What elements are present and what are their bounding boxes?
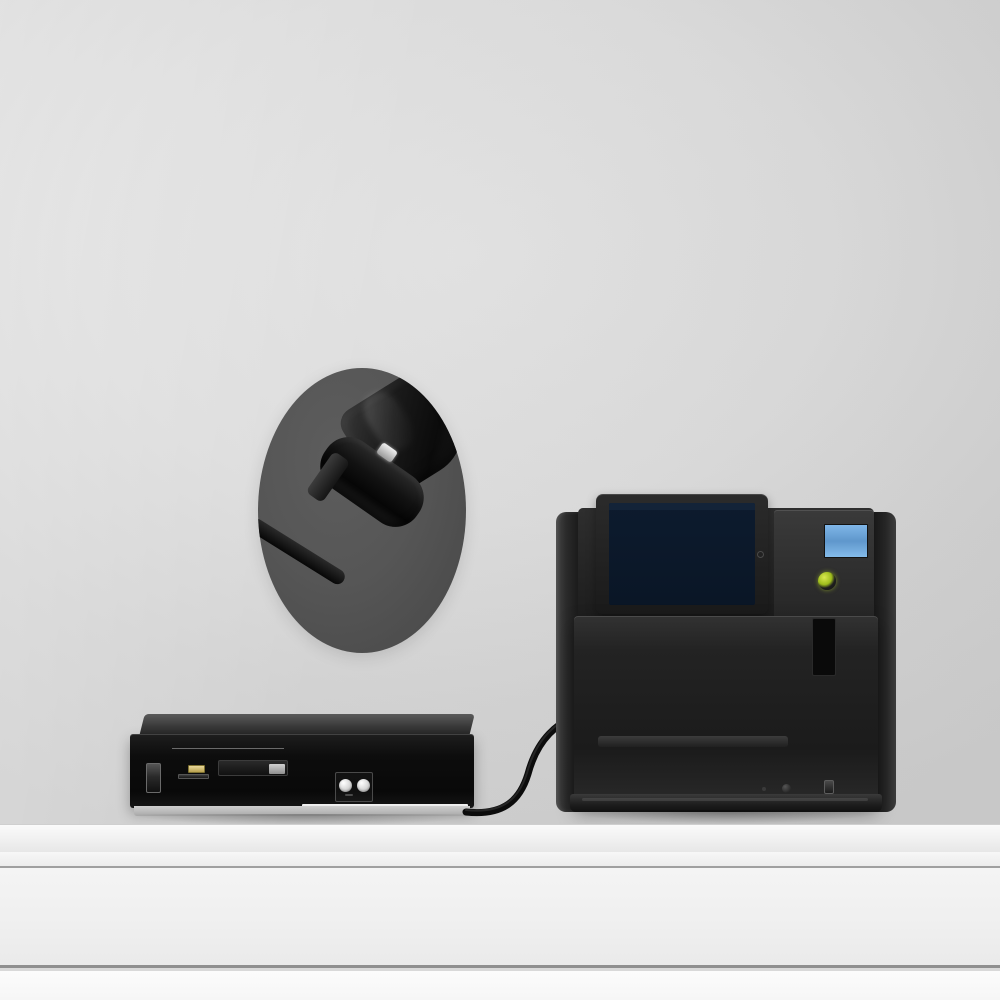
amplifier-vents [322, 720, 436, 728]
xlr-connector-inset [258, 368, 466, 653]
console-control-panel[interactable] [774, 510, 874, 620]
amplifier-top-cover [139, 714, 474, 736]
public-address-amplifier [130, 714, 474, 824]
front-volume-knob[interactable] [782, 784, 791, 793]
master-level-meter [812, 618, 836, 676]
usb-port[interactable] [188, 765, 205, 773]
headphone-jack[interactable] [824, 780, 834, 794]
led-display [218, 760, 288, 776]
mic-input-block [335, 772, 373, 802]
mixer-app-screen[interactable] [609, 503, 755, 605]
feature-icon-row [170, 786, 300, 806]
amplifier-title-rule [172, 748, 284, 749]
status-indicator-strip [307, 757, 401, 773]
table-front-edge [0, 852, 1000, 868]
amplifier-front-panel [130, 734, 474, 808]
value-encoder-knob[interactable] [818, 572, 836, 590]
media-panel [174, 758, 212, 782]
cabinet [0, 868, 1000, 968]
product-scene [0, 0, 1000, 1000]
home-button-icon[interactable] [757, 551, 764, 558]
roland-mixing-console [556, 488, 896, 824]
power-switch[interactable] [142, 754, 168, 804]
ipad-tablet[interactable] [596, 494, 768, 614]
mic-jack-ch1[interactable] [339, 779, 352, 792]
sd-card-slot[interactable] [178, 774, 209, 779]
console-lcd-display [824, 524, 868, 558]
table-top [0, 824, 1000, 852]
app-top-bar [609, 503, 755, 510]
marketing-copy [0, 100, 1000, 122]
floor [0, 971, 1000, 1000]
console-shadow [566, 810, 888, 824]
console-surface [574, 616, 878, 806]
display-level-bar [269, 764, 285, 774]
power-rocker[interactable] [146, 763, 161, 793]
mic-jack-ch2[interactable] [357, 779, 370, 792]
front-indicator-dot [762, 787, 766, 791]
console-front-highlight [582, 798, 868, 801]
mic-block-label [345, 794, 353, 796]
